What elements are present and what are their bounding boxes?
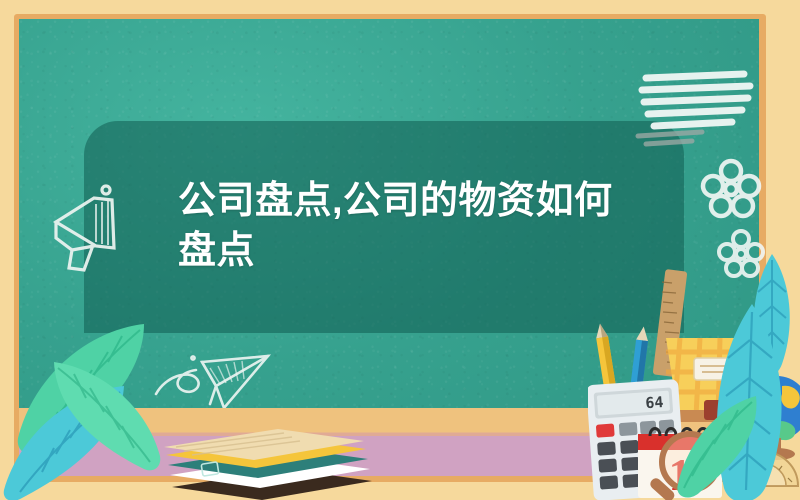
tropical-leaves <box>672 392 762 500</box>
cover-illustration: 公司盘点,公司的物资如何 盘点 <box>0 0 800 500</box>
stacked-books <box>158 425 388 500</box>
page-title: 公司盘点,公司的物资如何 盘点 <box>178 176 648 276</box>
calculator-display: 64 <box>645 393 664 412</box>
page-title-line-1: 公司盘点,公司的物资如何 <box>178 176 648 226</box>
page-title-line-2: 盘点 <box>178 226 648 276</box>
tropical-leaves <box>46 352 166 472</box>
